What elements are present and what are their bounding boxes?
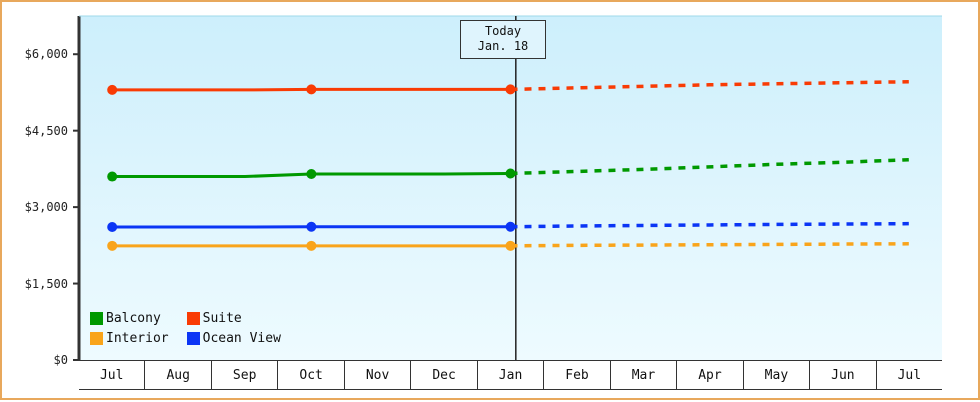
x-tick-apr-9[interactable]: Apr — [677, 361, 743, 389]
x-tick-jan-6[interactable]: Jan — [478, 361, 544, 389]
series-line-dashed-interior — [511, 244, 909, 246]
legend-item-balcony[interactable]: Balcony — [90, 310, 169, 326]
data-point-ocean-view[interactable] — [306, 222, 316, 232]
series-line-dashed-ocean-view — [511, 224, 909, 227]
x-tick-jul-0[interactable]: Jul — [79, 361, 145, 389]
legend-swatch-icon — [90, 332, 103, 345]
data-point-suite[interactable] — [306, 84, 316, 94]
legend-swatch-icon — [187, 312, 200, 325]
x-tick-jun-11[interactable]: Jun — [810, 361, 876, 389]
data-point-interior[interactable] — [107, 241, 117, 251]
chart-page: $6,000$4,500$3,000$1,500$0 Today Jan. 18… — [0, 0, 980, 400]
series-line-dashed-suite — [511, 82, 909, 90]
data-point-ocean-view[interactable] — [107, 222, 117, 232]
x-tick-jul-12[interactable]: Jul — [877, 361, 942, 389]
legend-label: Interior — [106, 332, 169, 345]
x-tick-aug-1[interactable]: Aug — [145, 361, 211, 389]
data-point-suite[interactable] — [506, 84, 516, 94]
legend-label: Ocean View — [203, 332, 281, 345]
x-tick-nov-4[interactable]: Nov — [345, 361, 411, 389]
series-line-dashed-balcony — [511, 160, 909, 174]
legend-label: Balcony — [106, 312, 161, 325]
today-annotation-line2: Jan. 18 — [461, 39, 545, 54]
data-point-suite[interactable] — [107, 85, 117, 95]
data-point-balcony[interactable] — [107, 172, 117, 182]
x-tick-may-10[interactable]: May — [744, 361, 810, 389]
legend-swatch-icon — [90, 312, 103, 325]
x-tick-oct-3[interactable]: Oct — [278, 361, 344, 389]
x-tick-dec-5[interactable]: Dec — [411, 361, 477, 389]
chart-legend: BalconySuiteInteriorOcean View — [90, 310, 281, 346]
data-point-interior[interactable] — [506, 241, 516, 251]
x-tick-sep-2[interactable]: Sep — [212, 361, 278, 389]
data-point-interior[interactable] — [306, 241, 316, 251]
today-annotation-line1: Today — [461, 24, 545, 39]
today-annotation: Today Jan. 18 — [460, 20, 546, 59]
x-tick-mar-8[interactable]: Mar — [611, 361, 677, 389]
data-point-ocean-view[interactable] — [506, 222, 516, 232]
legend-item-ocean-view[interactable]: Ocean View — [187, 330, 281, 346]
legend-item-suite[interactable]: Suite — [187, 310, 281, 326]
legend-swatch-icon — [187, 332, 200, 345]
data-point-balcony[interactable] — [506, 168, 516, 178]
legend-item-interior[interactable]: Interior — [90, 330, 169, 346]
x-tick-feb-7[interactable]: Feb — [544, 361, 610, 389]
x-axis: JulAugSepOctNovDecJanFebMarAprMayJunJul — [79, 360, 942, 390]
legend-label: Suite — [203, 312, 242, 325]
data-point-balcony[interactable] — [306, 169, 316, 179]
